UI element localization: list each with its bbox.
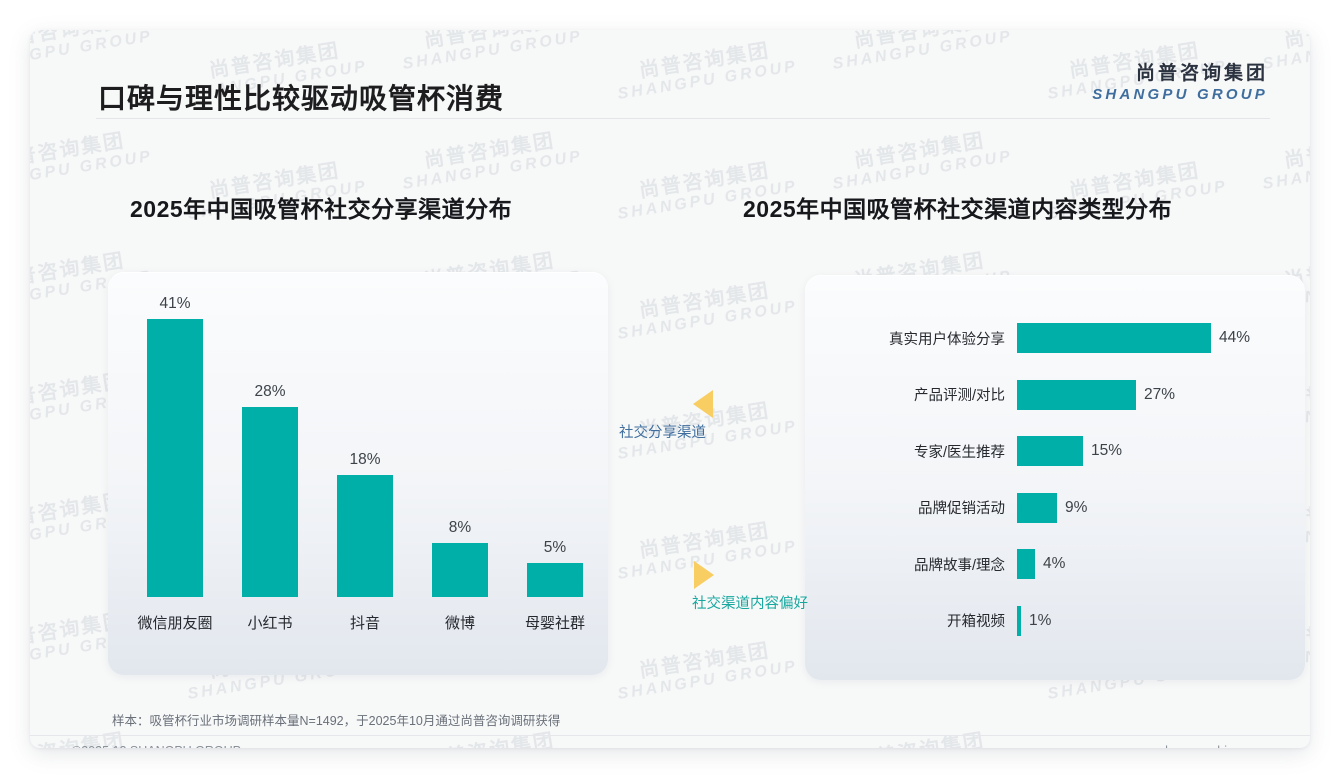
watermark-text: 尚普咨询集团SHANGPU GROUP [828, 126, 1014, 194]
right-chart-title: 2025年中国吸管杯社交渠道内容类型分布 [743, 190, 1172, 224]
bar-category-label: 抖音 [350, 612, 380, 633]
bar[interactable] [1017, 323, 1211, 353]
watermark-text: 尚普咨询集团SHANGPU GROUP [398, 726, 584, 748]
header-divider [96, 118, 1270, 119]
social-share-channel-bar-chart: 41%微信朋友圈28%小红书18%抖音8%微博5%母婴社群 [108, 272, 608, 675]
bar[interactable] [527, 563, 583, 597]
bar-category-label: 产品评测/对比 [805, 384, 1017, 405]
bar-value-label: 1% [1029, 612, 1051, 630]
bar-value-label: 8% [449, 519, 471, 537]
bar-group: 5%母婴社群 [510, 272, 600, 675]
slide-frame: 尚普咨询集团SHANGPU GROUP尚普咨询集团SHANGPU GROUP尚普… [30, 30, 1310, 748]
bar-category-label: 母婴社群 [525, 612, 585, 633]
bar-group: 8%微博 [415, 272, 505, 675]
bar-row: 专家/医生推荐15% [805, 436, 1305, 466]
bar-group: 28%小红书 [225, 272, 315, 675]
bar-value-label: 27% [1144, 386, 1175, 404]
bar-row: 品牌促销活动9% [805, 493, 1305, 523]
bar-category-label: 品牌促销活动 [805, 497, 1017, 518]
bar[interactable] [1017, 606, 1021, 636]
bar-value-label: 15% [1091, 442, 1122, 460]
bar-category-label: 开箱视频 [805, 610, 1017, 631]
annotation-label: 社交渠道内容偏好 [692, 592, 808, 613]
footer-website[interactable]: www.shangpu-china.com [1129, 744, 1268, 748]
sample-footnote: 样本：吸管杯行业市场调研样本量N=1492，于2025年10月通过尚普咨询调研获… [112, 710, 560, 729]
annotation-social-share-channel: 社交分享渠道 [619, 390, 713, 442]
bar-value-label: 41% [159, 295, 190, 313]
bar[interactable] [337, 475, 393, 597]
triangle-left-icon [693, 390, 713, 418]
bar-category-label: 微信朋友圈 [137, 612, 212, 633]
brand-logo: 尚普咨询集团 SHANGPU GROUP [1092, 62, 1268, 105]
bar-value-label: 4% [1043, 555, 1065, 573]
brand-logo-en: SHANGPU GROUP [1092, 86, 1268, 105]
bar[interactable] [147, 319, 203, 597]
annotation-content-preference: 社交渠道内容偏好 [690, 561, 808, 613]
bar[interactable] [432, 543, 488, 597]
triangle-right-icon [694, 561, 714, 589]
watermark-text: 尚普咨询集团SHANGPU GROUP [1258, 126, 1310, 194]
bar[interactable] [1017, 549, 1035, 579]
bar[interactable] [242, 407, 298, 597]
bar-category-label: 专家/医生推荐 [805, 441, 1017, 462]
annotation-label: 社交分享渠道 [619, 421, 713, 442]
footer-divider [30, 735, 1310, 736]
bar-row: 开箱视频1% [805, 606, 1305, 636]
watermark-text: 尚普咨询集团SHANGPU GROUP [30, 126, 154, 194]
bar-value-label: 9% [1065, 499, 1087, 517]
bar-value-label: 28% [254, 383, 285, 401]
bar-category-label: 真实用户体验分享 [805, 328, 1017, 349]
footer-copyright: ©2025.12 SHANGPU GROUP [72, 744, 241, 748]
bar-category-label: 品牌故事/理念 [805, 554, 1017, 575]
bar-value-label: 5% [544, 539, 566, 557]
content-type-bar-chart: 真实用户体验分享44%产品评测/对比27%专家/医生推荐15%品牌促销活动9%品… [805, 275, 1305, 680]
bar-row: 产品评测/对比27% [805, 380, 1305, 410]
bar-group: 18%抖音 [320, 272, 410, 675]
page-title: 口碑与理性比较驱动吸管杯消费 [98, 77, 504, 117]
bar-value-label: 18% [349, 451, 380, 469]
brand-logo-cn: 尚普咨询集团 [1092, 62, 1268, 86]
bar-value-label: 44% [1219, 329, 1250, 347]
watermark-text: 尚普咨询集团SHANGPU GROUP [613, 276, 799, 344]
bar-category-label: 微博 [445, 612, 475, 633]
bar-row: 真实用户体验分享44% [805, 323, 1305, 353]
bar-row: 品牌故事/理念4% [805, 549, 1305, 579]
bar-category-label: 小红书 [247, 612, 292, 633]
bar-group: 41%微信朋友圈 [130, 272, 220, 675]
bar[interactable] [1017, 436, 1083, 466]
watermark-text: 尚普咨询集团SHANGPU GROUP [828, 726, 1014, 748]
left-chart-title: 2025年中国吸管杯社交分享渠道分布 [130, 190, 512, 224]
bar[interactable] [1017, 493, 1057, 523]
slide-header: 口碑与理性比较驱动吸管杯消费 尚普咨询集团 SHANGPU GROUP [30, 30, 1310, 118]
watermark-text: 尚普咨询集团SHANGPU GROUP [613, 636, 799, 704]
watermark-text: 尚普咨询集团SHANGPU GROUP [398, 126, 584, 194]
bar[interactable] [1017, 380, 1136, 410]
